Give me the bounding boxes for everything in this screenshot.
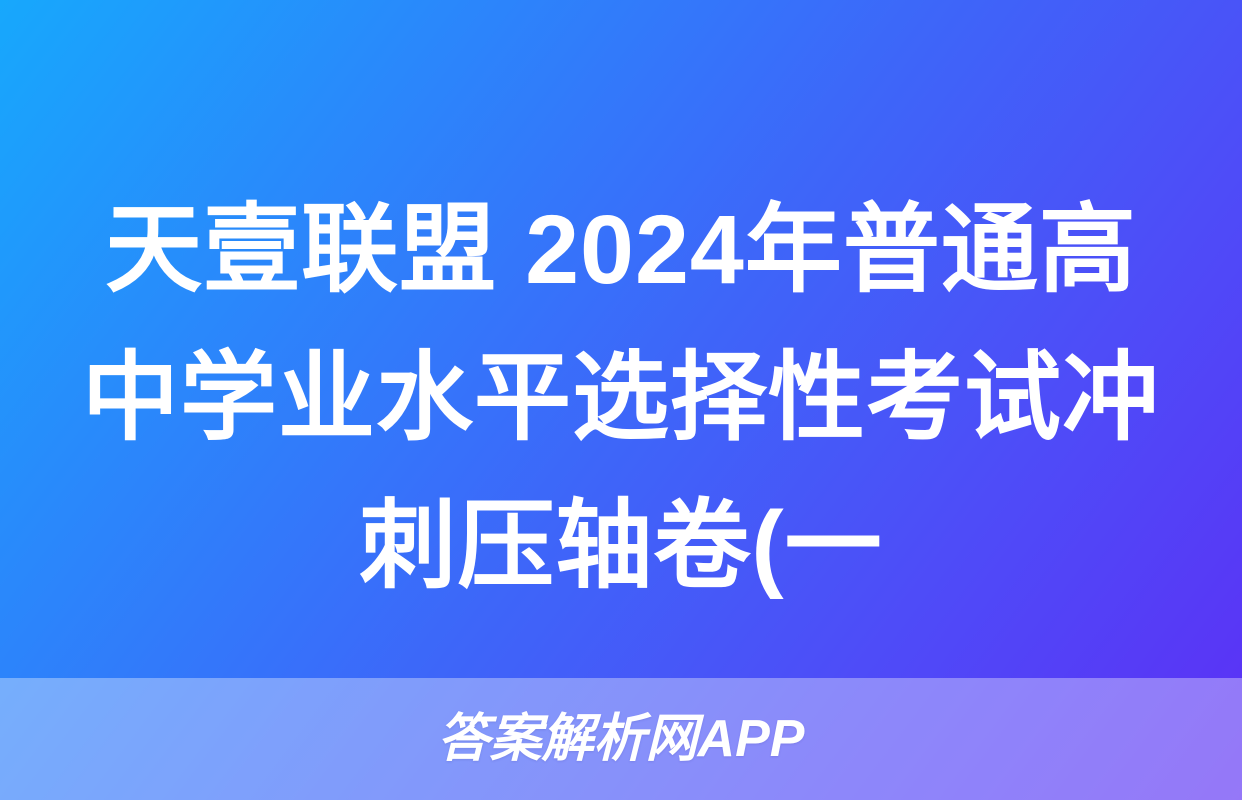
watermark-label: 答案解析网APP: [438, 713, 805, 765]
title-line-1: 天壹联盟 2024年普通高: [30, 176, 1212, 324]
share-card: 天壹联盟 2024年普通高 中学业水平选择性考试冲 刺压轴卷(一 答案解析网AP…: [0, 0, 1242, 800]
title-line-2: 中学业水平选择性考试冲: [30, 324, 1212, 472]
title-line-3: 刺压轴卷(一: [30, 472, 1212, 620]
watermark-banner: 答案解析网APP: [0, 678, 1242, 800]
page-title: 天壹联盟 2024年普通高 中学业水平选择性考试冲 刺压轴卷(一: [0, 176, 1242, 620]
